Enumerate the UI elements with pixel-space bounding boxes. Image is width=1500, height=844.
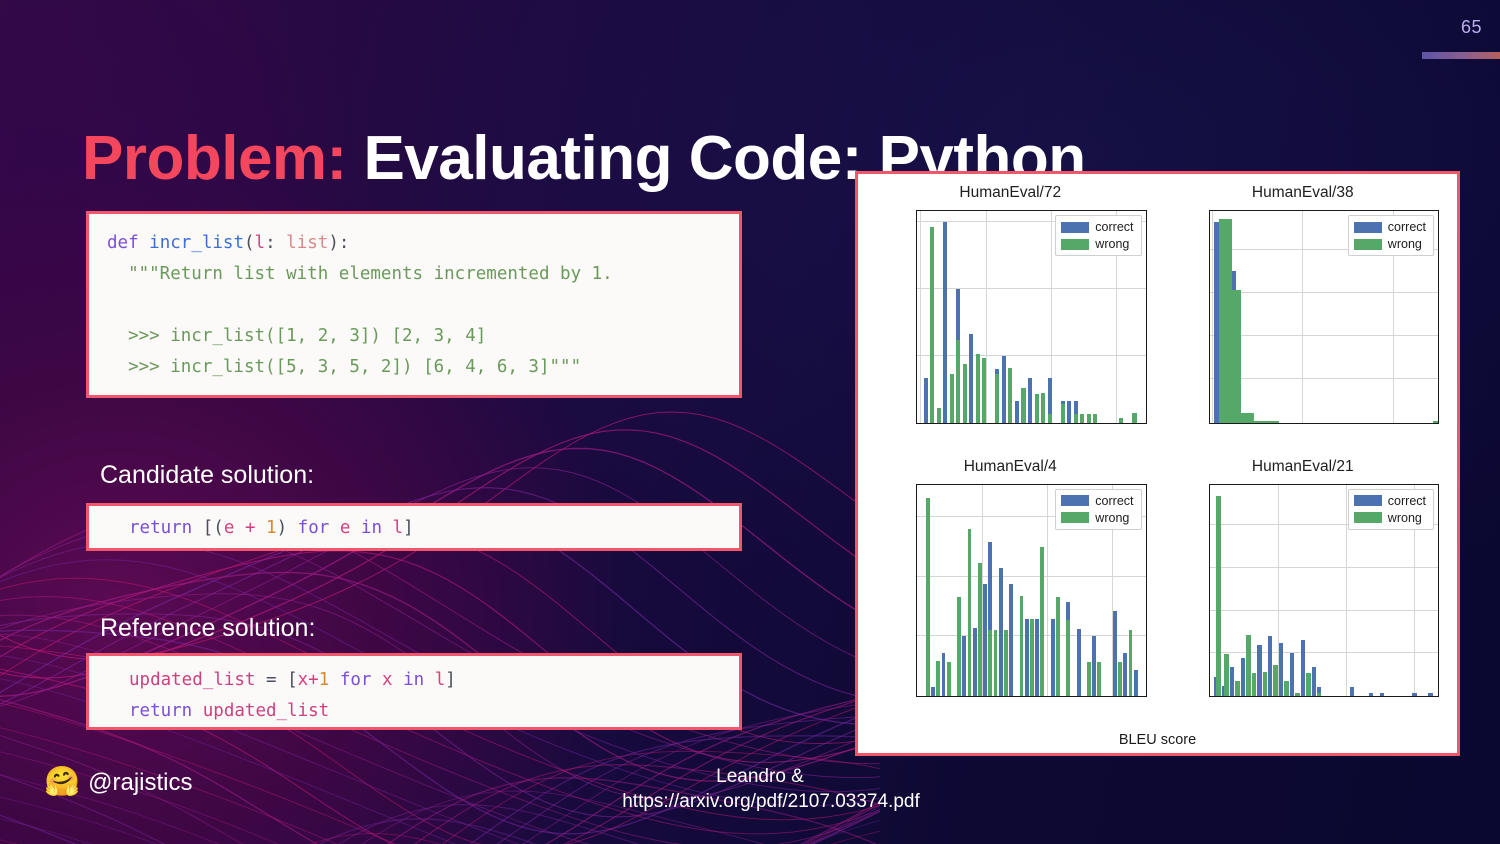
histogram-bar-wrong xyxy=(1021,388,1025,423)
legend-label: wrong xyxy=(1095,511,1129,525)
gridline-horizontal xyxy=(1210,378,1439,379)
y-axis-tick-mark xyxy=(1209,567,1210,569)
histogram-bar-wrong xyxy=(1235,681,1240,696)
legend-label: wrong xyxy=(1388,237,1422,251)
y-axis-tick-mark xyxy=(1209,292,1210,294)
y-axis-tick-mark xyxy=(1209,610,1210,612)
histogram-bar-correct xyxy=(1092,636,1096,696)
subplot-title: HumanEval/38 xyxy=(1157,184,1450,202)
slide-root: 65 Problem: Evaluating Code: Python def … xyxy=(0,0,1500,844)
gridline-horizontal xyxy=(917,288,1146,289)
figure-xaxis-label: BLEU score xyxy=(858,732,1457,748)
histogram-bar-correct xyxy=(1268,636,1273,696)
legend-entry: wrong xyxy=(1354,511,1426,525)
problem-code-block: def incr_list(l: list): """Return list w… xyxy=(86,211,742,398)
legend-swatch-correct xyxy=(1354,495,1382,506)
histogram-bar-wrong xyxy=(1040,547,1044,696)
y-axis-tick-mark xyxy=(916,516,917,518)
histogram-bar-correct xyxy=(1257,645,1262,696)
histogram-bar-wrong xyxy=(968,529,972,696)
y-axis-tick-mark xyxy=(1209,335,1210,337)
histogram-bar-correct xyxy=(1113,611,1117,696)
histogram-bar-wrong xyxy=(1216,496,1221,696)
histogram-bar-wrong xyxy=(1056,597,1060,696)
histogram-bar-wrong xyxy=(1273,665,1278,696)
plot-area: 051015200.00.20.4correctwrong xyxy=(1209,210,1440,424)
code-line: def incr_list(l: list): xyxy=(107,228,739,259)
histogram-bar-wrong xyxy=(1132,413,1136,422)
histogram-bar-wrong xyxy=(1246,635,1251,696)
histogram-bar-wrong xyxy=(976,354,980,422)
gridline-vertical xyxy=(1346,485,1347,697)
histogram-bar-wrong xyxy=(1074,414,1078,422)
y-axis-tick-mark xyxy=(916,221,917,223)
histogram-bar-wrong xyxy=(1004,630,1008,696)
histogram-bar-wrong xyxy=(1119,418,1123,422)
y-axis-tick-mark xyxy=(916,355,917,357)
histogram-bar-correct xyxy=(983,584,987,696)
histogram-bar-correct xyxy=(962,636,966,696)
histogram-bar-correct xyxy=(1009,584,1013,696)
legend-entry: correct xyxy=(1354,220,1426,234)
chart-legend: correctwrong xyxy=(1055,215,1141,256)
reference-code-lines: updated_list = [x+1 for x in l] return u… xyxy=(89,656,739,727)
legend-swatch-wrong xyxy=(1354,239,1382,250)
x-axis-tick-label: 0.1 xyxy=(977,423,995,424)
histogram-bar-wrong xyxy=(1066,620,1070,696)
gridline-vertical xyxy=(1212,211,1213,423)
histogram-bar-correct xyxy=(1312,667,1317,696)
legend-swatch-wrong xyxy=(1061,512,1089,523)
x-axis-tick-label: 0.25 xyxy=(969,696,994,697)
histogram-bar-wrong xyxy=(988,630,992,696)
histogram-bar-correct xyxy=(1123,653,1127,696)
histogram-bar-wrong xyxy=(1048,414,1052,422)
histogram-bar-wrong xyxy=(1266,421,1279,422)
x-axis-tick-label: 0.25 xyxy=(1265,696,1290,697)
reference-code-block: updated_list = [x+1 for x in l] return u… xyxy=(86,653,742,730)
histogram-bar-correct xyxy=(1067,401,1071,422)
reference-solution-label: Reference solution: xyxy=(100,614,315,643)
legend-entry: wrong xyxy=(1354,237,1426,251)
histogram-bar-correct xyxy=(1369,693,1374,696)
code-line: return [(e + 1) for e in l] xyxy=(129,513,739,544)
subplot-humaneval-4: HumanEval/401230.000.250.500.75correctwr… xyxy=(864,454,1157,728)
y-axis-tick-mark xyxy=(1209,525,1210,527)
y-axis-tick-mark xyxy=(1209,249,1210,251)
histogram-bar-wrong xyxy=(1252,673,1257,696)
histogram-bar-wrong xyxy=(1118,662,1122,696)
histogram-bar-wrong xyxy=(995,374,999,422)
histogram-bar-correct xyxy=(969,334,973,422)
chart-legend: correctwrong xyxy=(1348,215,1434,256)
histogram-bar-wrong xyxy=(1433,421,1439,422)
author-handle: 🤗 @rajistics xyxy=(44,768,192,797)
histogram-bar-wrong xyxy=(957,597,961,696)
subplot-title: HumanEval/4 xyxy=(864,458,1157,476)
page-number: 65 xyxy=(1461,17,1482,38)
candidate-code-block: return [(e + 1) for e in l] xyxy=(86,503,742,551)
x-axis-tick-label: 0.50 xyxy=(1333,696,1358,697)
histogram-bar-wrong xyxy=(1295,693,1300,696)
histogram-bar-correct xyxy=(1025,619,1029,696)
legend-label: correct xyxy=(1388,494,1426,508)
subplot-humaneval-72: HumanEval/720510150.00.10.20.3correctwro… xyxy=(864,180,1157,454)
histogram-bar-correct xyxy=(1241,658,1246,696)
histogram-bar-wrong xyxy=(994,630,998,696)
chart-legend: correctwrong xyxy=(1348,489,1434,530)
histogram-bar-correct xyxy=(1028,378,1032,422)
y-axis-tick-mark xyxy=(916,636,917,638)
candidate-solution-label: Candidate solution: xyxy=(100,461,314,490)
legend-swatch-correct xyxy=(1061,222,1089,233)
plot-area: 0510150.00.10.20.3correctwrong xyxy=(916,210,1147,424)
histogram-bar-correct xyxy=(1301,640,1306,696)
y-axis-tick-mark xyxy=(916,576,917,578)
subplot-humaneval-38: HumanEval/38051015200.00.20.4correctwron… xyxy=(1157,180,1450,454)
chart-legend: correctwrong xyxy=(1055,489,1141,530)
histogram-bar-wrong xyxy=(926,498,930,696)
histogram-bar-wrong xyxy=(936,661,940,696)
source-credit: Leandro & https://arxiv.org/pdf/2107.033… xyxy=(560,764,960,814)
histogram-bar-wrong xyxy=(937,408,941,423)
author-handle-label: @rajistics xyxy=(88,769,192,797)
plot-area: 0.02.55.07.510.00.000.250.500.75correctw… xyxy=(1209,484,1440,698)
gridline-vertical xyxy=(920,211,921,423)
code-line xyxy=(107,290,739,321)
x-axis-tick-label: 0.50 xyxy=(1034,696,1059,697)
candidate-code-lines: return [(e + 1) for e in l] xyxy=(89,506,739,544)
gridline-horizontal xyxy=(1210,652,1439,653)
histogram-bar-correct xyxy=(1279,643,1284,696)
x-axis-tick-label: 0.00 xyxy=(1209,696,1223,697)
gridline-horizontal xyxy=(1210,567,1439,568)
histogram-bar-wrong xyxy=(950,374,954,422)
problem-code-lines: def incr_list(l: list): """Return list w… xyxy=(89,214,739,383)
gridline-horizontal xyxy=(1210,335,1439,336)
histogram-bar-wrong xyxy=(947,662,951,696)
histogram-bar-correct xyxy=(1035,619,1039,696)
x-axis-tick-label: 0.0 xyxy=(1209,423,1221,424)
x-axis-tick-label: 0.4 xyxy=(1384,423,1402,424)
legend-entry: correct xyxy=(1354,494,1426,508)
histogram-bar-wrong xyxy=(978,563,982,696)
code-line: """Return list with elements incremented… xyxy=(107,259,739,290)
histogram-bar-correct xyxy=(1002,356,1006,423)
figure-panel: HumanEval/720510150.00.10.20.3correctwro… xyxy=(855,171,1460,756)
y-axis-tick-mark xyxy=(1209,379,1210,381)
histogram-bar-correct xyxy=(999,568,1003,696)
y-axis-tick-mark xyxy=(916,288,917,290)
gridline-horizontal xyxy=(1210,610,1439,611)
gridline-horizontal xyxy=(917,355,1146,356)
histogram-bar-wrong xyxy=(1008,368,1012,423)
histogram-bar-wrong xyxy=(1030,619,1034,696)
histogram-bar-wrong xyxy=(930,227,934,422)
histogram-bar-wrong xyxy=(1041,393,1045,422)
histogram-bar-wrong xyxy=(1020,596,1024,696)
legend-label: correct xyxy=(1095,220,1133,234)
credit-line-2[interactable]: https://arxiv.org/pdf/2107.03374.pdf xyxy=(582,789,960,814)
histogram-bar-wrong xyxy=(1087,414,1091,422)
histogram-bar-wrong xyxy=(1061,404,1065,423)
histogram-bar-correct xyxy=(973,628,977,697)
histogram-bar-correct xyxy=(1412,693,1417,696)
x-axis-tick-label: 0.2 xyxy=(1042,423,1060,424)
legend-swatch-correct xyxy=(1061,495,1089,506)
subplot-grid: HumanEval/720510150.00.10.20.3correctwro… xyxy=(858,174,1457,753)
y-axis-tick-mark xyxy=(1209,653,1210,655)
page-accent-bar xyxy=(1422,52,1500,59)
legend-entry: wrong xyxy=(1061,511,1133,525)
legend-label: wrong xyxy=(1388,511,1422,525)
histogram-bar-wrong xyxy=(1035,394,1039,422)
histogram-bar-wrong xyxy=(982,358,986,422)
title-accent: Problem: xyxy=(82,124,347,193)
histogram-bar-correct xyxy=(943,222,947,423)
histogram-bar-wrong xyxy=(1284,681,1289,696)
code-line: updated_list = [x+1 for x in l] xyxy=(129,665,739,696)
histogram-bar-correct xyxy=(931,687,935,696)
histogram-bar-correct xyxy=(924,378,928,422)
legend-entry: correct xyxy=(1061,494,1133,508)
hugging-face-icon: 🤗 xyxy=(44,768,80,797)
histogram-bar-wrong xyxy=(1097,662,1101,696)
histogram-bar-wrong xyxy=(963,364,967,423)
x-axis-tick-label: 0.75 xyxy=(1099,696,1124,697)
x-axis-tick-label: 0.00 xyxy=(916,696,930,697)
subplot-title: HumanEval/72 xyxy=(864,184,1157,202)
histogram-bar-wrong xyxy=(1093,414,1097,422)
code-line: >>> incr_list([1, 2, 3]) [2, 3, 4] xyxy=(107,321,739,352)
gridline-horizontal xyxy=(1210,292,1439,293)
legend-entry: correct xyxy=(1061,220,1133,234)
histogram-bar-wrong xyxy=(1263,672,1268,696)
histogram-bar-correct xyxy=(942,653,946,696)
histogram-bar-wrong xyxy=(1306,673,1311,696)
histogram-bar-correct xyxy=(1428,693,1433,696)
legend-label: correct xyxy=(1095,494,1133,508)
legend-label: correct xyxy=(1388,220,1426,234)
histogram-bar-wrong xyxy=(1317,693,1322,696)
histogram-bar-correct xyxy=(1290,653,1295,696)
histogram-bar-correct xyxy=(1134,670,1138,696)
code-line: >>> incr_list([5, 3, 5, 2]) [6, 4, 6, 3]… xyxy=(107,352,739,383)
histogram-bar-correct xyxy=(1051,619,1055,696)
histogram-bar-correct xyxy=(1015,401,1019,422)
gridline-vertical xyxy=(1047,485,1048,697)
subplot-title: HumanEval/21 xyxy=(1157,458,1450,476)
code-line: return updated_list xyxy=(129,696,739,727)
histogram-bar-correct xyxy=(1350,687,1355,696)
x-axis-tick-label: 0.75 xyxy=(1401,696,1426,697)
x-axis-tick-label: 0.3 xyxy=(1107,423,1125,424)
legend-swatch-wrong xyxy=(1061,239,1089,250)
plot-area: 01230.000.250.500.75correctwrong xyxy=(916,484,1147,698)
histogram-bar-wrong xyxy=(1080,414,1084,422)
subplot-humaneval-21: HumanEval/210.02.55.07.510.00.000.250.50… xyxy=(1157,454,1450,728)
histogram-bar-correct xyxy=(1380,693,1385,696)
legend-label: wrong xyxy=(1095,237,1129,251)
histogram-bar-wrong xyxy=(1224,654,1229,696)
gridline-vertical xyxy=(1302,211,1303,423)
histogram-bar-correct xyxy=(1077,629,1081,696)
credit-line-1: Leandro & xyxy=(716,766,804,787)
legend-swatch-correct xyxy=(1354,222,1382,233)
histogram-bar-correct xyxy=(1230,667,1235,696)
legend-swatch-wrong xyxy=(1354,512,1382,523)
x-axis-tick-label: 0.2 xyxy=(1293,423,1311,424)
x-axis-tick-label: 0.0 xyxy=(916,423,929,424)
histogram-bar-wrong xyxy=(956,340,960,423)
legend-entry: wrong xyxy=(1061,237,1133,251)
histogram-bar-wrong xyxy=(1129,630,1133,696)
histogram-bar-wrong xyxy=(1228,290,1241,422)
histogram-bar-wrong xyxy=(1087,662,1091,696)
